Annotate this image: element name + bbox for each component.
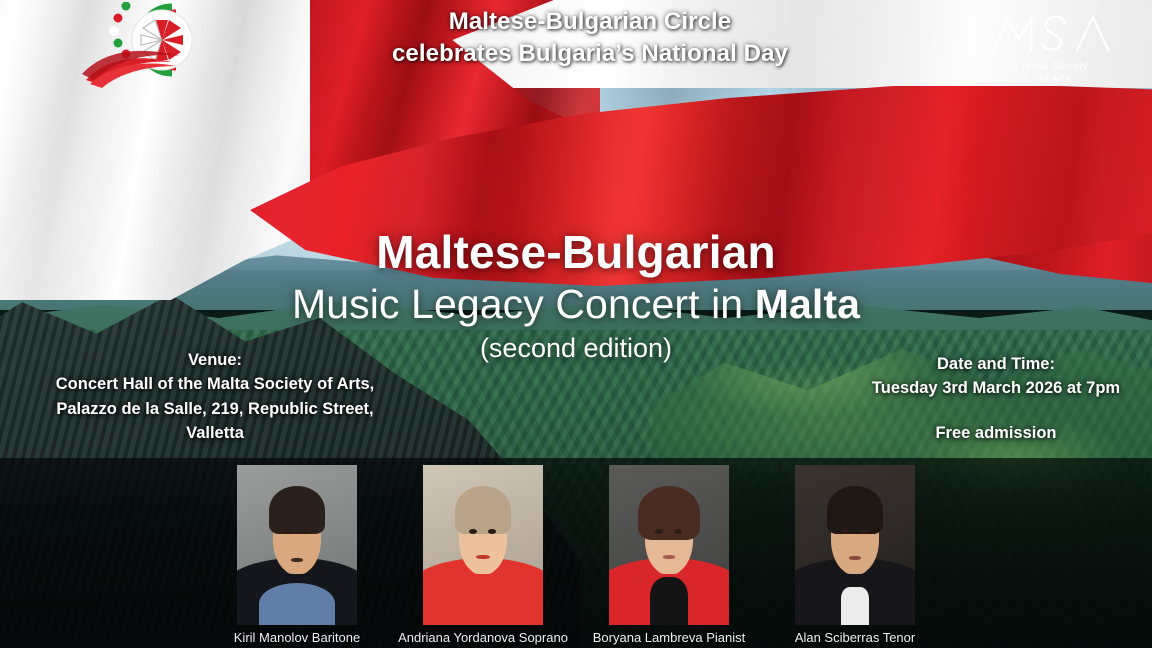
performer-name: Boryana Lambreva Pianist: [593, 631, 745, 646]
venue-line-2: Palazzo de la Salle, 219, Republic Stree…: [10, 397, 420, 421]
admission-note: Free admission: [846, 421, 1146, 445]
title-line-2-prefix: Music Legacy Concert in: [292, 281, 755, 327]
title-line-2: Music Legacy Concert in Malta: [0, 280, 1152, 329]
event-poster: Malta Society of Arts Maltese-Bulgarian …: [0, 0, 1152, 648]
venue-info: Venue: Concert Hall of the Malta Society…: [10, 348, 420, 446]
header-line-1: Maltese-Bulgarian Circle: [300, 6, 880, 38]
msa-wordmark-line1: Malta Society: [1022, 60, 1088, 73]
header-line-2: celebrates Bulgaria’s National Day: [300, 38, 880, 70]
datetime-info: Date and Time: Tuesday 3rd March 2026 at…: [846, 352, 1146, 445]
performer-name: Kiril Manolov Baritone: [234, 631, 360, 646]
performer-item: Alan Sciberras Tenor: [782, 465, 928, 646]
performers-row: Kiril Manolov Baritone Andriana Yordanov…: [0, 465, 1152, 648]
portrait-boryana-lambreva: [609, 465, 729, 625]
poster-title: Maltese-Bulgarian Music Legacy Concert i…: [0, 228, 1152, 366]
datetime-value: Tuesday 3rd March 2026 at 7pm: [846, 376, 1146, 400]
maltese-bulgarian-circle-logo: [76, 2, 208, 88]
title-line-1: Maltese-Bulgarian: [0, 228, 1152, 278]
portrait-kiril-manolov: [237, 465, 357, 625]
msa-wordmark-line2: of Arts: [1022, 73, 1088, 86]
performer-item: Kiril Manolov Baritone: [224, 465, 370, 646]
portrait-alan-sciberras: [795, 465, 915, 625]
venue-line-3: Valletta: [10, 421, 420, 445]
venue-line-1: Concert Hall of the Malta Society of Art…: [10, 372, 420, 396]
datetime-label: Date and Time:: [846, 352, 1146, 376]
title-line-2-bold: Malta: [755, 281, 860, 327]
performer-name: Alan Sciberras Tenor: [795, 631, 915, 646]
performer-item: Boryana Lambreva Pianist: [596, 465, 742, 646]
msa-logo: Malta Society of Arts: [980, 10, 1130, 90]
msa-wordmark: Malta Society of Arts: [1022, 60, 1088, 86]
venue-label: Venue:: [10, 348, 420, 372]
performer-item: Andriana Yordanova Soprano: [410, 465, 556, 646]
msa-monogram-icon: [989, 10, 1121, 56]
performer-name: Andriana Yordanova Soprano: [398, 631, 568, 646]
header-tagline: Maltese-Bulgarian Circle celebrates Bulg…: [300, 6, 880, 69]
portrait-andriana-yordanova: [423, 465, 543, 625]
